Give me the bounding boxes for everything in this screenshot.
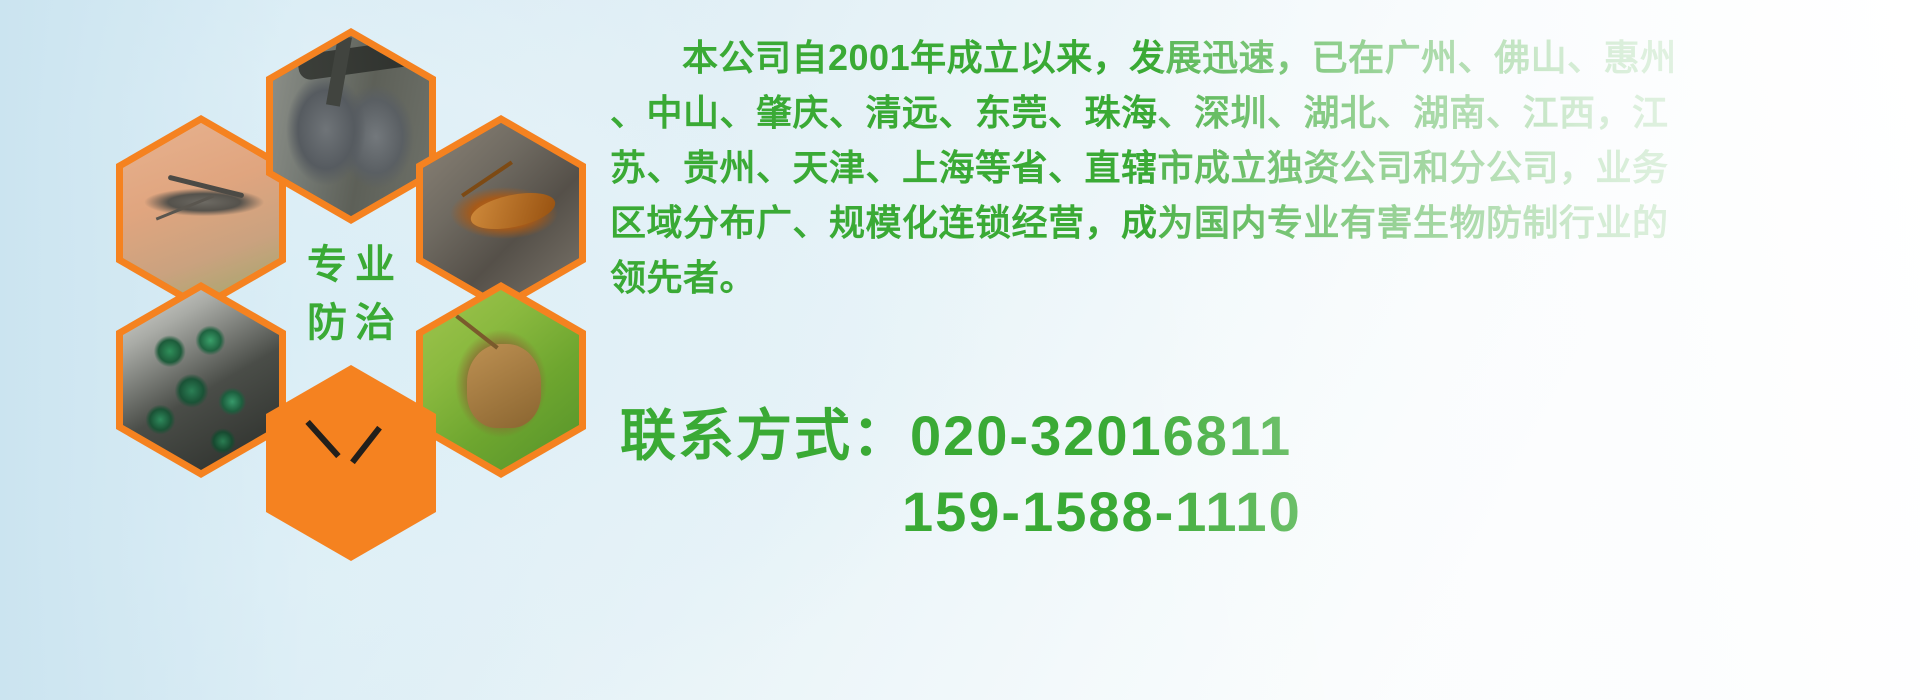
intro-line-2: 、中山、肇庆、清远、东莞、珠海、深圳、湖北、湖南、江西，江 bbox=[610, 85, 1900, 140]
hex-photo-flies-frame bbox=[123, 290, 279, 470]
hex-photo-stink-bug bbox=[416, 282, 586, 478]
hex-photo-ant-frame bbox=[273, 373, 429, 553]
intro-line-3: 苏、贵州、天津、上海等省、直辖市成立独资公司和分公司，业务 bbox=[610, 140, 1900, 195]
ant-photo bbox=[273, 373, 429, 553]
stink-bug-photo bbox=[423, 290, 579, 470]
promotional-banner: 专业 防治 本公司自2001年成立以来，发展迅速，已在广州、佛山、惠州 、中山、… bbox=[0, 0, 1920, 700]
hex-photo-mosquito bbox=[116, 115, 286, 311]
hex-photo-flies bbox=[116, 282, 286, 478]
hex-photo-ant bbox=[266, 365, 436, 561]
rat-photo bbox=[273, 36, 429, 216]
flies-photo bbox=[123, 290, 279, 470]
hex-photo-cockroach bbox=[416, 115, 586, 311]
contact-block: 联系方式：020-32016811 159-1588-1110 bbox=[610, 398, 1900, 550]
hex-photo-cockroach-frame bbox=[423, 123, 579, 303]
company-intro-block: 本公司自2001年成立以来，发展迅速，已在广州、佛山、惠州 、中山、肇庆、清远、… bbox=[610, 30, 1900, 305]
hexagon-photo-cluster: 专业 防治 bbox=[80, 0, 600, 700]
intro-line-1: 本公司自2001年成立以来，发展迅速，已在广州、佛山、惠州 bbox=[610, 30, 1900, 85]
intro-line-4: 区域分布广、规模化连锁经营，成为国内专业有害生物防制行业的 bbox=[610, 195, 1900, 250]
contact-phone-mobile[interactable]: 159-1588-1110 bbox=[610, 474, 1900, 550]
hex-center-slogan: 专业 防治 bbox=[266, 196, 436, 392]
intro-line-5: 领先者。 bbox=[610, 250, 1900, 305]
hex-photo-rat bbox=[266, 28, 436, 224]
mosquito-photo bbox=[123, 123, 279, 303]
hex-photo-stink-bug-frame bbox=[423, 290, 579, 470]
slogan-line-1: 专业 bbox=[299, 236, 403, 294]
company-intro-paragraph: 本公司自2001年成立以来，发展迅速，已在广州、佛山、惠州 、中山、肇庆、清远、… bbox=[610, 30, 1900, 305]
hex-photo-mosquito-frame bbox=[123, 123, 279, 303]
contact-phone-primary[interactable]: 联系方式：020-32016811 bbox=[610, 398, 1900, 474]
slogan-line-2: 防治 bbox=[299, 294, 403, 352]
hex-photo-rat-frame bbox=[273, 36, 429, 216]
cockroach-photo bbox=[423, 123, 579, 303]
hex-center-slogan-frame: 专业 防治 bbox=[266, 196, 436, 392]
